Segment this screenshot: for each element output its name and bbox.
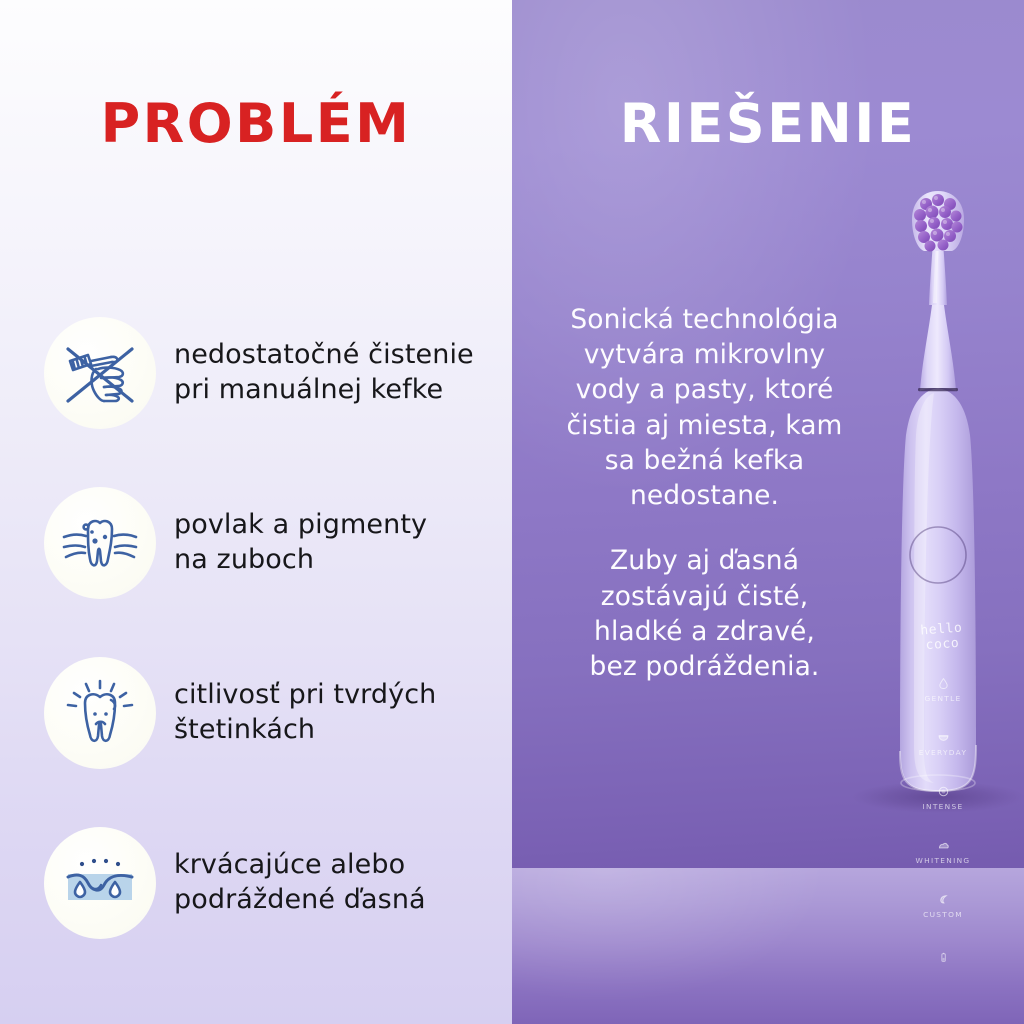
list-item-line: štetinkách <box>174 713 436 748</box>
solution-paragraph: Zuby aj ďasná zostávajú čisté, hladké a … <box>532 543 877 684</box>
list-item-line: pri manuálnej kefke <box>174 373 474 408</box>
paragraph-line: čistia aj miesta, kam <box>532 408 877 443</box>
stained-tooth-icon <box>44 487 156 599</box>
paragraph-line: Zuby aj ďasná <box>532 543 877 578</box>
list-item-line: na zuboch <box>174 543 427 578</box>
paragraph-line: Sonická technológia <box>532 302 877 337</box>
list-item-line: nedostatočné čistenie <box>174 338 474 373</box>
list-item-line: citlivosť pri tvrdých <box>174 678 436 713</box>
crossed-out-manual-toothbrush-icon <box>44 317 156 429</box>
problem-title: PROBLÉM <box>0 92 512 155</box>
list-item-line: povlak a pigmenty <box>174 508 427 543</box>
paragraph-line: sa bežná kefka <box>532 443 877 478</box>
list-item-text: krvácajúce alebo podráždené ďasná <box>174 848 426 917</box>
solution-title: RIEŠENIE <box>512 92 1024 155</box>
bleeding-gums-icon <box>44 827 156 939</box>
paragraph-line: nedostane. <box>532 478 877 513</box>
list-item-text: nedostatočné čistenie pri manuálnej kefk… <box>174 338 474 407</box>
problem-panel: PROBLÉM <box>0 0 512 1024</box>
list-item-text: citlivosť pri tvrdých štetinkách <box>174 678 436 747</box>
list-item: povlak a pigmenty na zuboch <box>44 458 512 628</box>
sensitive-tooth-icon <box>44 657 156 769</box>
list-item-line: podráždené ďasná <box>174 883 426 918</box>
solution-paragraph: Sonická technológia vytvára mikrovlny vo… <box>532 302 877 513</box>
paragraph-line: hladké a zdravé, <box>532 614 877 649</box>
paragraph-line: vody a pasty, ktoré <box>532 372 877 407</box>
solution-panel: RIEŠENIE Sonická technológia vytvára mik… <box>512 0 1024 1024</box>
list-item: krvácajúce alebo podráždené ďasná <box>44 798 512 968</box>
list-item: citlivosť pri tvrdých štetinkách <box>44 628 512 798</box>
brush-seam <box>918 388 958 391</box>
paragraph-line: zostávajú čisté, <box>532 579 877 614</box>
list-item-line: krvácajúce alebo <box>174 848 426 883</box>
infographic-root: PROBLÉM <box>0 0 1024 1024</box>
brush-handle <box>900 388 976 791</box>
list-item: nedostatočné čistenie pri manuálnej kefk… <box>44 288 512 458</box>
list-item-text: povlak a pigmenty na zuboch <box>174 508 427 577</box>
brush-neck <box>920 305 956 391</box>
problem-list: nedostatočné čistenie pri manuálnej kefk… <box>44 288 512 968</box>
paragraph-line: bez podráždenia. <box>532 649 877 684</box>
paragraph-line: vytvára mikrovlny <box>532 337 877 372</box>
solution-copy: Sonická technológia vytvára mikrovlny vo… <box>532 302 877 684</box>
